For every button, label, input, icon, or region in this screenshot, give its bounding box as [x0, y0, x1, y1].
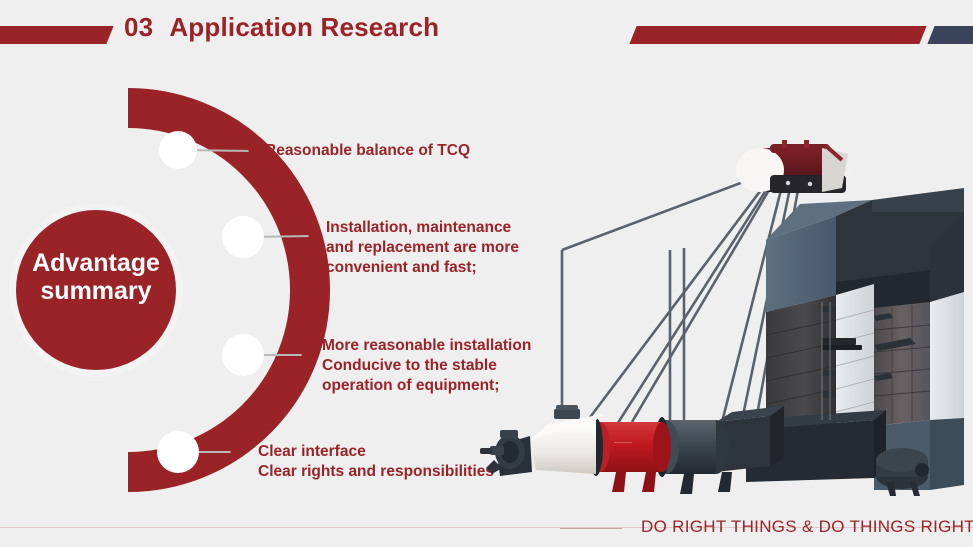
bullet-dot-1: [249, 147, 258, 156]
svg-text:———: ———: [614, 440, 632, 446]
header-accent-bar-right-red: [629, 26, 926, 44]
header-accent-bar-left: [0, 26, 114, 44]
section-title: Application Research: [169, 12, 439, 42]
node-circle-4[interactable]: [157, 431, 199, 473]
node-circle-2[interactable]: [222, 216, 264, 258]
burner-assembly: ———: [480, 405, 784, 494]
section-number: 03: [124, 12, 153, 42]
equipment-illustration: ———: [470, 130, 973, 500]
top-drum: [736, 140, 850, 193]
valve-head: [480, 430, 532, 476]
bullet-text-1: Reasonable balance of TCQ: [265, 141, 470, 161]
footer-tagline: DO RIGHT THINGS & DO THINGS RIGHT: [641, 517, 973, 537]
node-circle-1[interactable]: [159, 131, 197, 169]
footer-accent-rule: [560, 528, 622, 529]
bullet-dot-3: [302, 351, 311, 360]
center-circle[interactable]: [16, 210, 176, 370]
slide-canvas: 03Application Research Advantage summary…: [0, 0, 973, 547]
bullet-dot-2: [309, 232, 318, 241]
page-title: 03Application Research: [124, 12, 439, 43]
header-accent-bar-right-navy: [927, 26, 973, 44]
node-circle-3[interactable]: [222, 334, 264, 376]
bullet-text-4: Clear interface Clear rights and respons…: [258, 442, 494, 482]
support-pipes: [562, 172, 798, 430]
bullet-dot-4: [231, 448, 240, 457]
